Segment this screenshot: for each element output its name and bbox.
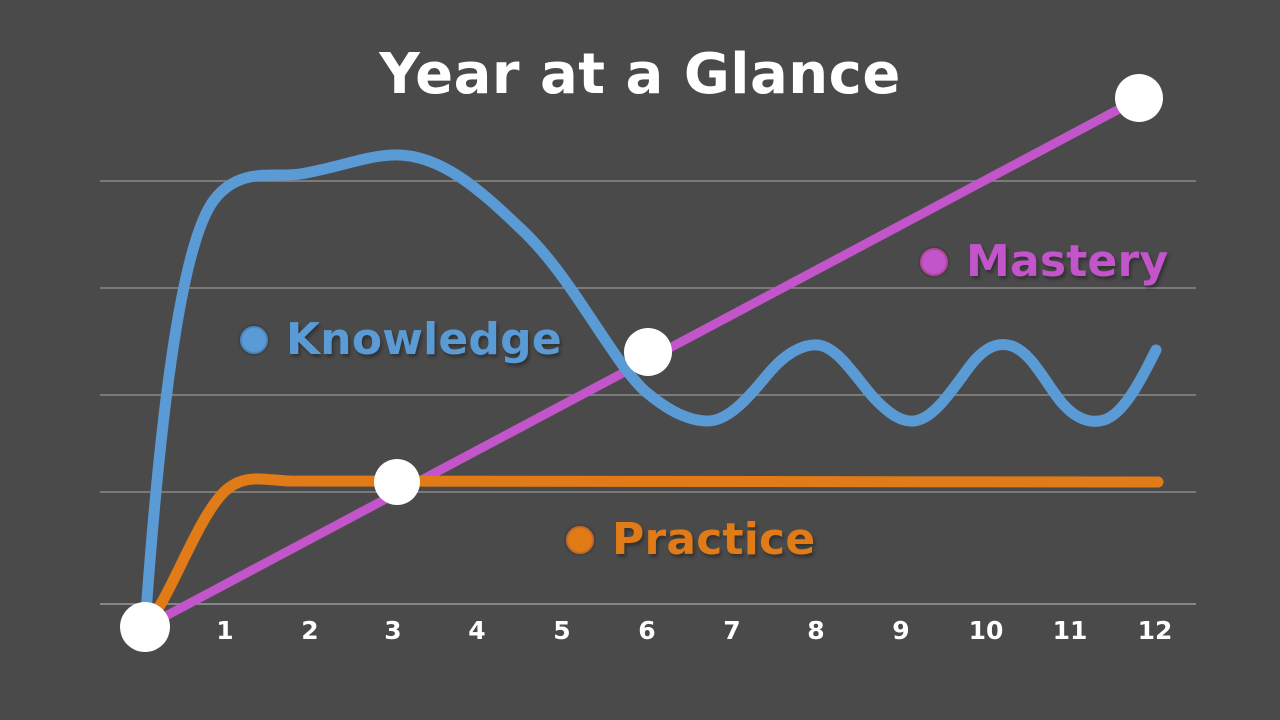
marker-origin[interactable] [120,602,170,652]
marker-knowledge-mastery-crossing[interactable] [624,328,672,376]
legend-label-mastery: Mastery [966,236,1168,287]
x-tick-9: 9 [871,616,931,645]
slide-canvas: Year at a Glance Knowledge Mastery Pract… [0,0,1280,720]
legend-item-mastery[interactable]: Mastery [920,236,1168,287]
legend-item-practice[interactable]: Practice [566,514,815,565]
marker-practice-mastery-crossing[interactable] [374,459,420,505]
legend-dot-mastery-icon [920,248,948,276]
x-tick-10: 10 [956,616,1016,645]
legend-dot-knowledge-icon [240,326,268,354]
x-tick-4: 4 [447,616,507,645]
legend-item-knowledge[interactable]: Knowledge [240,314,562,365]
x-tick-12: 12 [1125,616,1185,645]
x-tick-11: 11 [1040,616,1100,645]
x-tick-3: 3 [363,616,423,645]
x-tick-5: 5 [532,616,592,645]
chart-plot-area [0,0,1280,720]
legend-label-knowledge: Knowledge [286,314,562,365]
legend-label-practice: Practice [612,514,815,565]
x-tick-7: 7 [702,616,762,645]
x-tick-8: 8 [786,616,846,645]
x-tick-6: 6 [617,616,677,645]
x-tick-2: 2 [280,616,340,645]
marker-mastery-endpoint[interactable] [1115,74,1163,122]
x-tick-1: 1 [195,616,255,645]
legend-dot-practice-icon [566,526,594,554]
